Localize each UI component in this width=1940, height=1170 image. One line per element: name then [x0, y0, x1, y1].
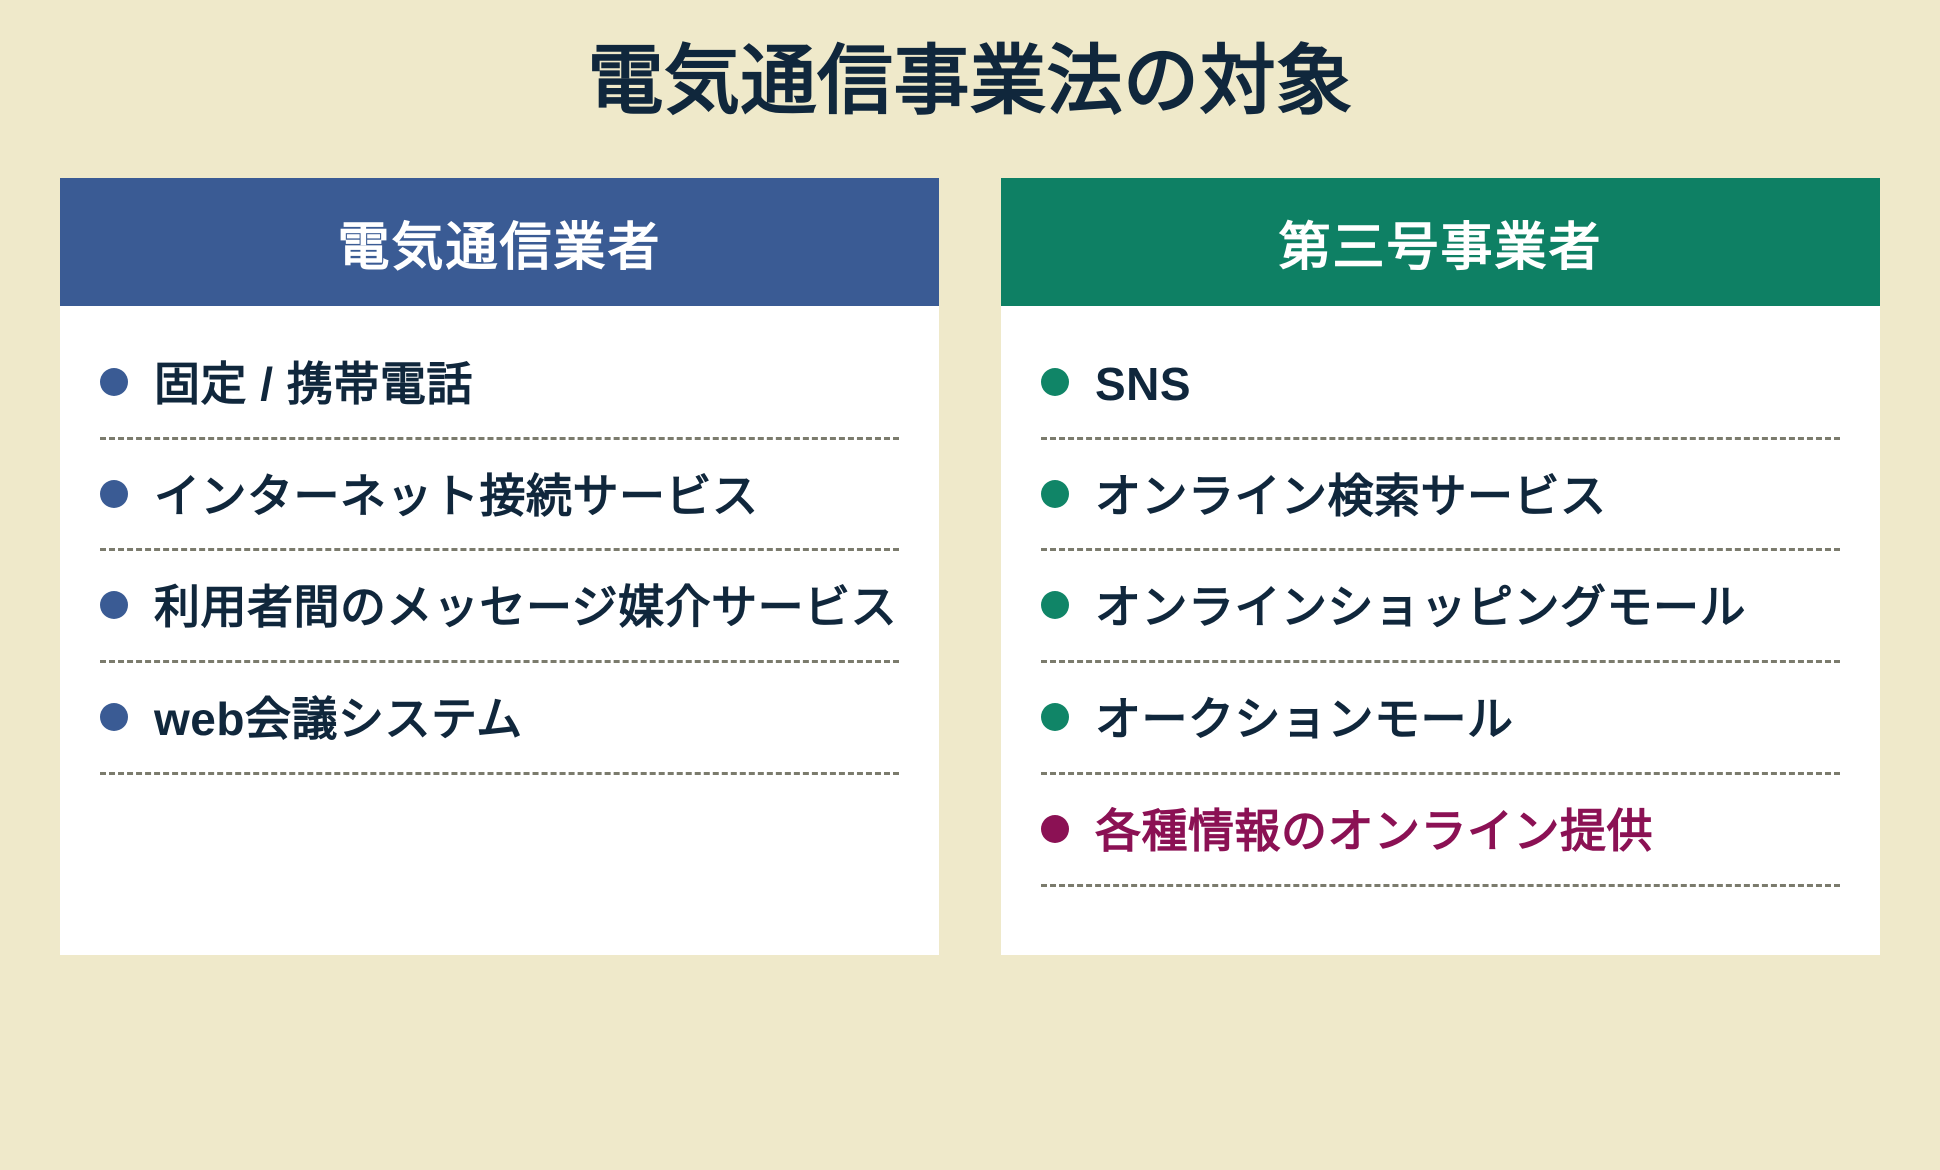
card-third-category-providers: 第三号事業者 SNS オンライン検索サービス オンラインショッピングモール オー… [1001, 178, 1880, 955]
card-header-telecom-carriers: 電気通信業者 [60, 178, 939, 306]
list-item: 利用者間のメッセージ媒介サービス [100, 551, 899, 663]
bullet-icon [100, 480, 128, 508]
card-telecom-carriers: 電気通信業者 固定 / 携帯電話 インターネット接続サービス 利用者間のメッセー… [60, 178, 939, 955]
list-item: オークションモール [1041, 663, 1840, 775]
list-item-label: インターネット接続サービス [154, 466, 759, 527]
list-item-label: オンライン検索サービス [1095, 466, 1607, 527]
list-item: インターネット接続サービス [100, 440, 899, 552]
list-item-label: 各種情報のオンライン提供 [1095, 801, 1653, 862]
list-item: 各種情報のオンライン提供 [1041, 775, 1840, 887]
columns-container: 電気通信業者 固定 / 携帯電話 インターネット接続サービス 利用者間のメッセー… [60, 178, 1880, 955]
list-item-label: オークションモール [1095, 689, 1514, 750]
list-item-label: 利用者間のメッセージ媒介サービス [154, 577, 897, 638]
list-item-label: オンラインショッピングモール [1095, 577, 1746, 638]
list-item-label: SNS [1095, 354, 1191, 415]
bullet-icon [1041, 591, 1069, 619]
list-item: オンラインショッピングモール [1041, 551, 1840, 663]
list-item: SNS [1041, 328, 1840, 440]
list-item: オンライン検索サービス [1041, 440, 1840, 552]
bullet-icon [1041, 480, 1069, 508]
infographic-page: 電気通信事業法の対象 電気通信業者 固定 / 携帯電話 インターネット接続サービ… [0, 0, 1940, 1170]
bullet-icon [100, 368, 128, 396]
list-item: web会議システム [100, 663, 899, 775]
list-item-label: web会議システム [154, 689, 523, 750]
bullet-icon [1041, 815, 1069, 843]
card-body-third-category-providers: SNS オンライン検索サービス オンラインショッピングモール オークションモール [1001, 306, 1880, 955]
page-title: 電気通信事業法の対象 [0, 38, 1940, 125]
card-body-telecom-carriers: 固定 / 携帯電話 インターネット接続サービス 利用者間のメッセージ媒介サービス… [60, 306, 939, 955]
card-header-third-category-providers: 第三号事業者 [1001, 178, 1880, 306]
bullet-icon [100, 591, 128, 619]
card-body-spacer [100, 775, 899, 925]
list-item: 固定 / 携帯電話 [100, 328, 899, 440]
bullet-icon [100, 703, 128, 731]
bullet-icon [1041, 368, 1069, 396]
list-item-label: 固定 / 携帯電話 [154, 354, 473, 415]
bullet-icon [1041, 703, 1069, 731]
